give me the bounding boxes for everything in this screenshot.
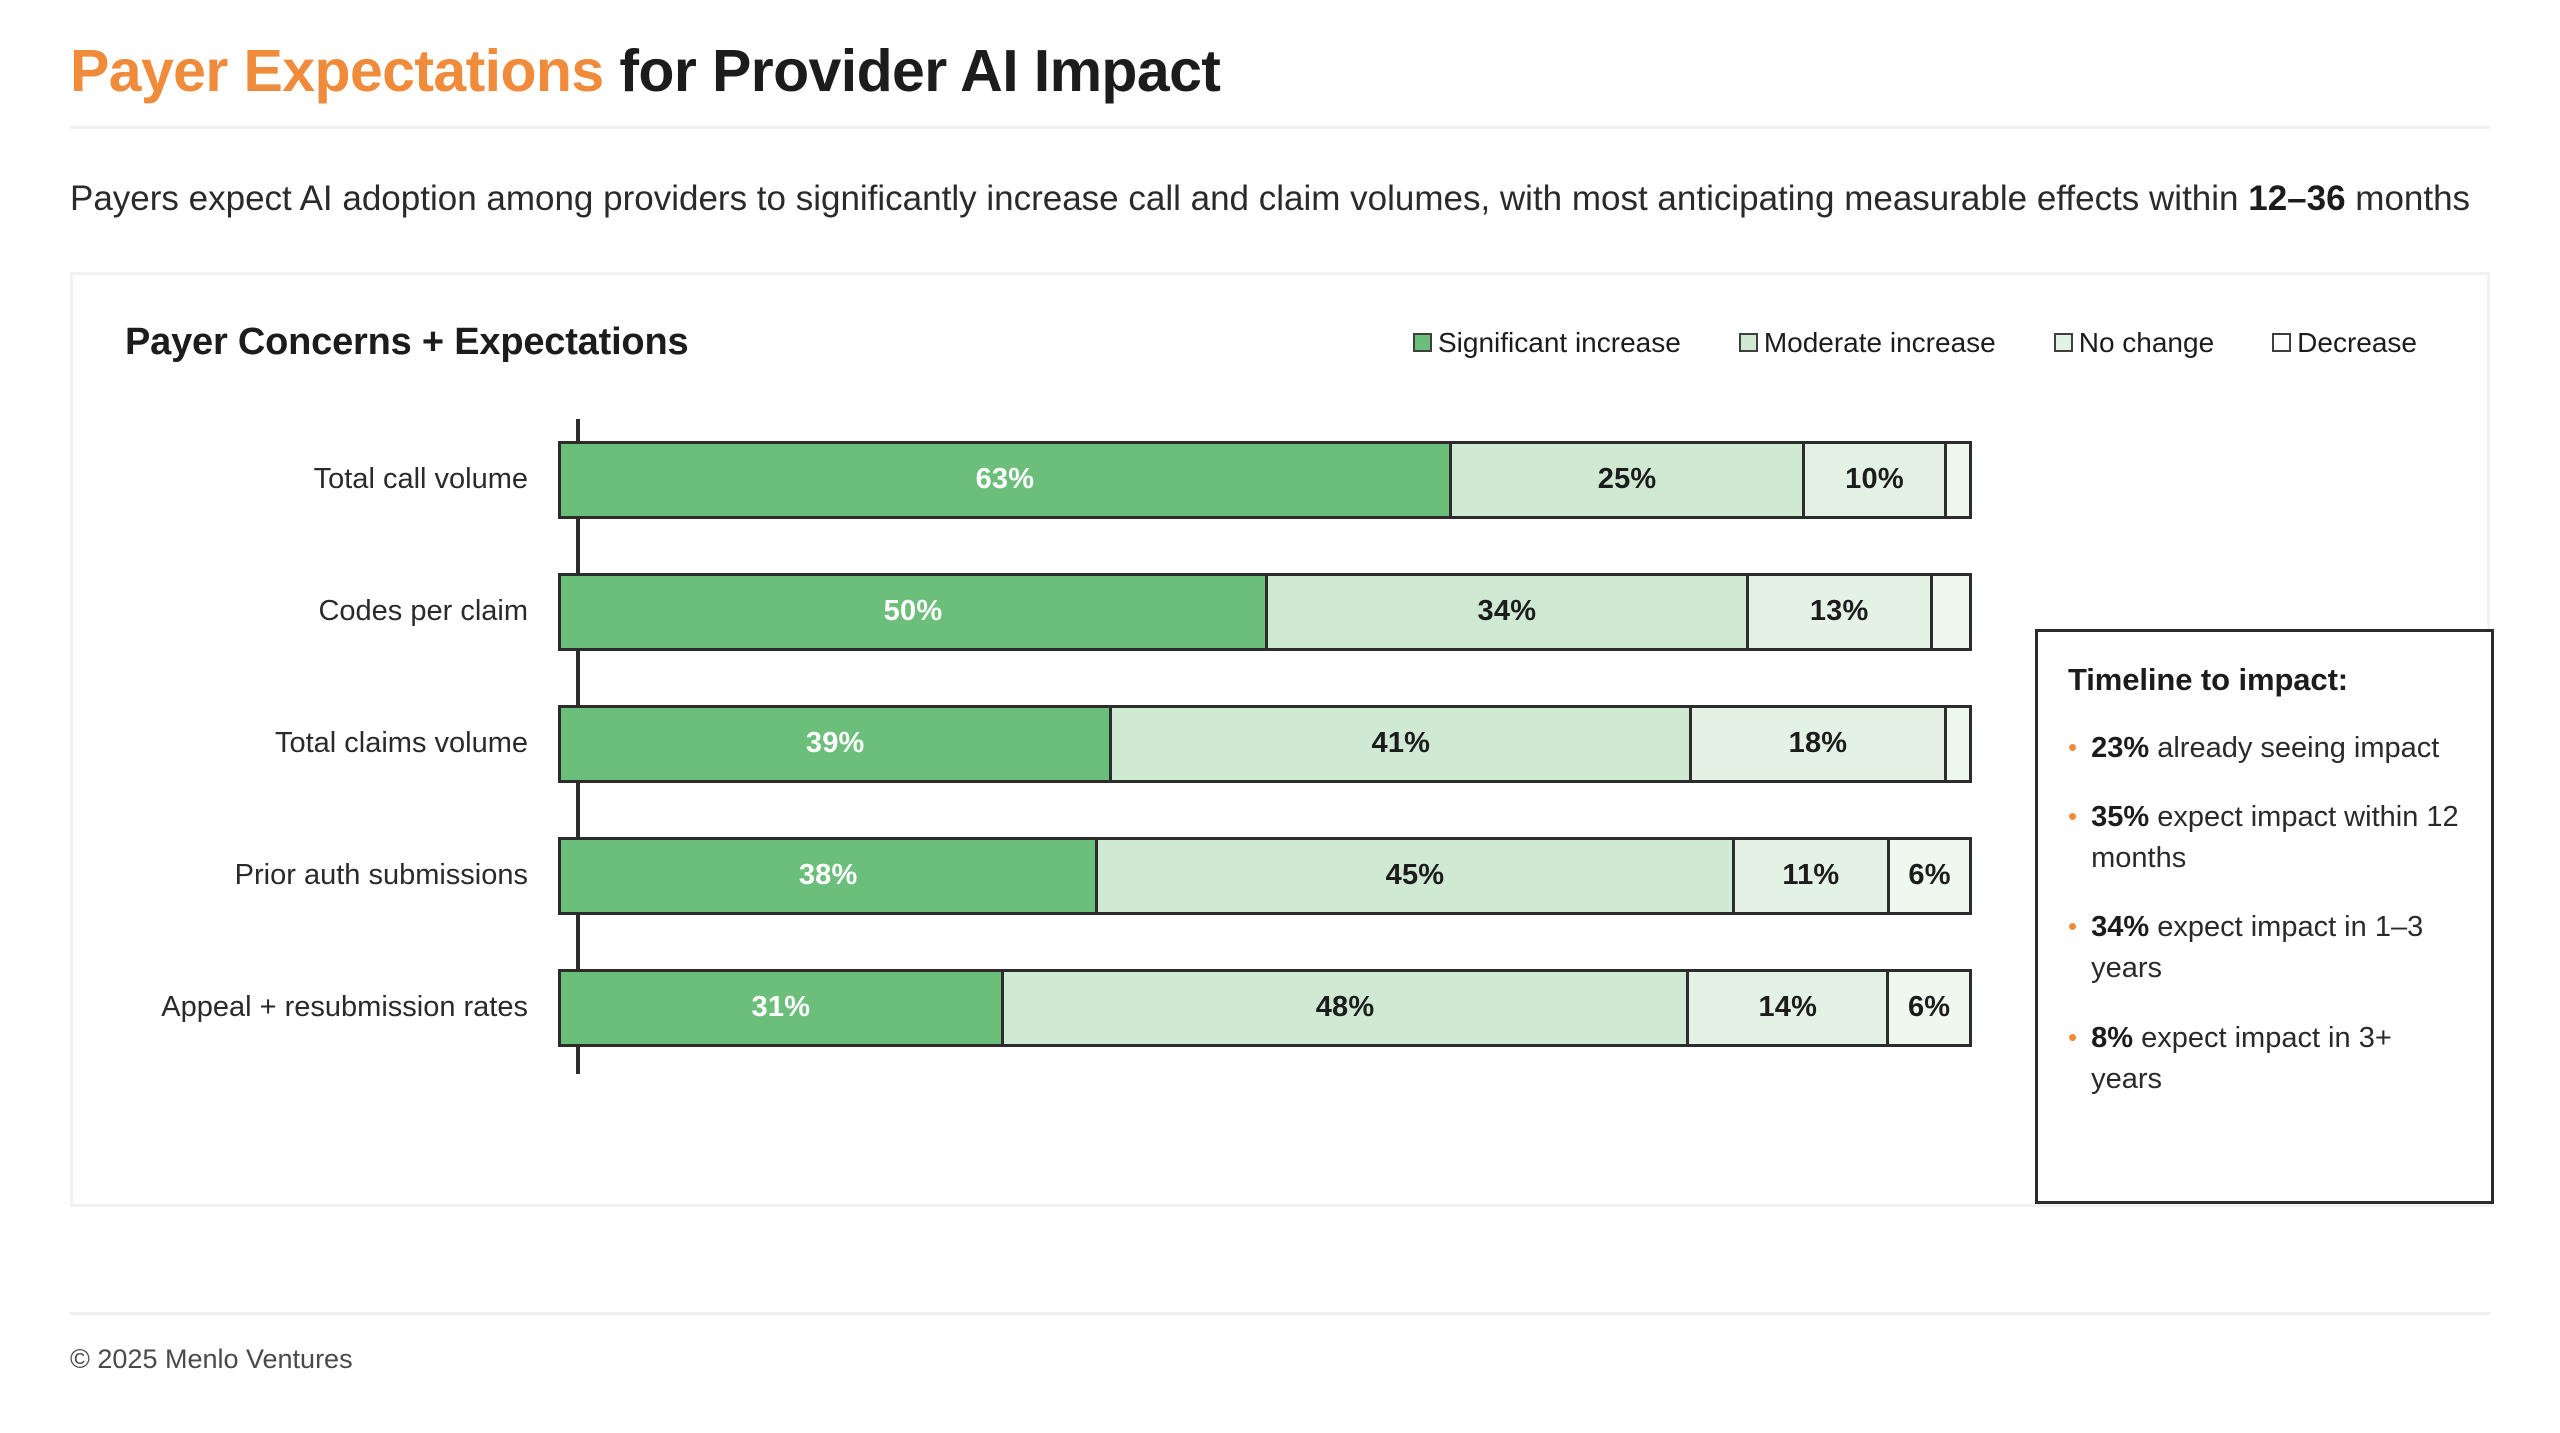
timeline-list-item: •34% expect impact in 1–3 years — [2068, 907, 2465, 989]
chart-row: Appeal + resubmission rates31%48%14%6% — [117, 969, 1987, 1047]
footer-divider — [70, 1312, 2490, 1315]
chart-bar-segment[interactable]: 6% — [1887, 837, 1972, 915]
chart-row-label: Total claims volume — [117, 727, 554, 760]
page-title: Payer Expectations for Provider AI Impac… — [70, 38, 2490, 104]
chart-bar-segment[interactable]: 48% — [1001, 969, 1687, 1047]
chart-row-label: Total call volume — [117, 463, 554, 496]
timeline-to-impact-box: Timeline to impact: •23% already seeing … — [2035, 629, 2494, 1204]
chart-bar-segment[interactable]: 13% — [1746, 573, 1930, 651]
chart-panel-header: Payer Concerns + Expectations Significan… — [117, 313, 2443, 373]
chart-bar-segment[interactable]: 10% — [1802, 441, 1943, 519]
chart-row-label: Appeal + resubmission rates — [117, 991, 554, 1024]
timeline-item-value: 23% — [2091, 732, 2149, 764]
chart-bar: 63%25%10% — [558, 441, 1972, 519]
legend-swatch-icon — [2054, 333, 2073, 352]
timeline-title: Timeline to impact: — [2068, 662, 2465, 698]
legend-item-moderate-increase[interactable]: Moderate increase — [1739, 327, 1996, 359]
chart-bar: 50%34%13% — [558, 573, 1972, 651]
chart-bar-segment[interactable]: 11% — [1732, 837, 1888, 915]
timeline-list-item: •23% already seeing impact — [2068, 728, 2465, 769]
slide-root: Payer Expectations for Provider AI Impac… — [0, 0, 2560, 1433]
chart-bar-segment[interactable]: 41% — [1109, 705, 1689, 783]
timeline-item-value: 34% — [2091, 911, 2149, 943]
chart-row: Prior auth submissions38%45%11%6% — [117, 837, 1987, 915]
legend-item-no-change[interactable]: No change — [2054, 327, 2214, 359]
stacked-bar-chart: Total call volume63%25%10%Codes per clai… — [117, 419, 2443, 1079]
chart-bar-segment[interactable] — [1944, 441, 1972, 519]
timeline-list-item: •8% expect impact in 3+ years — [2068, 1018, 2465, 1100]
bullet-icon: • — [2068, 797, 2077, 879]
chart-bar-segment[interactable]: 63% — [558, 441, 1449, 519]
timeline-item-text: 23% already seeing impact — [2091, 728, 2439, 769]
chart-bar-segment[interactable]: 31% — [558, 969, 1001, 1047]
chart-row-label: Prior auth submissions — [117, 859, 554, 892]
subtitle-part1: Payers expect AI adoption among provider… — [70, 179, 2248, 218]
timeline-item-text: 34% expect impact in 1–3 years — [2091, 907, 2465, 989]
chart-row: Total call volume63%25%10% — [117, 441, 1987, 519]
subtitle-emphasis: 12–36 — [2248, 179, 2345, 218]
timeline-list-item: •35% expect impact within 12 months — [2068, 797, 2465, 879]
chart-row: Codes per claim50%34%13% — [117, 573, 1987, 651]
timeline-item-text: 8% expect impact in 3+ years — [2091, 1018, 2465, 1100]
legend-swatch-icon — [1413, 333, 1432, 352]
chart-bar-segment[interactable]: 18% — [1689, 705, 1944, 783]
chart-bar-segment[interactable] — [1930, 573, 1972, 651]
chart-bar-segment[interactable]: 45% — [1095, 837, 1731, 915]
chart-bar-segment[interactable]: 50% — [558, 573, 1265, 651]
chart-bar-segment[interactable]: 34% — [1265, 573, 1746, 651]
chart-bar-segment[interactable]: 14% — [1686, 969, 1886, 1047]
legend-swatch-icon — [1739, 333, 1758, 352]
chart-bar: 39%41%18% — [558, 705, 1972, 783]
timeline-item-text: 35% expect impact within 12 months — [2091, 797, 2465, 879]
chart-row: Total claims volume39%41%18% — [117, 705, 1987, 783]
chart-bar-segment[interactable]: 25% — [1449, 441, 1803, 519]
chart-bar-segment[interactable] — [1944, 705, 1972, 783]
chart-bar-segment[interactable]: 38% — [558, 837, 1095, 915]
timeline-list: •23% already seeing impact•35% expect im… — [2068, 728, 2465, 1100]
legend-swatch-icon — [2272, 333, 2291, 352]
chart-bar-segment[interactable]: 39% — [558, 705, 1109, 783]
chart-title: Payer Concerns + Expectations — [125, 321, 688, 364]
chart-row-label: Codes per claim — [117, 595, 554, 628]
timeline-item-value: 8% — [2091, 1022, 2133, 1054]
legend-label: Moderate increase — [1764, 327, 1996, 359]
subtitle-part2: months — [2346, 179, 2471, 218]
chart-bar: 31%48%14%6% — [558, 969, 1972, 1047]
legend-item-significant-increase[interactable]: Significant increase — [1413, 327, 1681, 359]
chart-rows: Total call volume63%25%10%Codes per clai… — [117, 441, 1987, 1047]
legend-item-decrease[interactable]: Decrease — [2272, 327, 2417, 359]
bullet-icon: • — [2068, 1018, 2077, 1100]
chart-bar-segment[interactable]: 6% — [1886, 969, 1972, 1047]
page-title-rest: for Provider AI Impact — [604, 38, 1221, 104]
chart-bar: 38%45%11%6% — [558, 837, 1972, 915]
header-divider — [70, 126, 2490, 129]
page-title-accent: Payer Expectations — [70, 38, 604, 104]
subtitle: Payers expect AI adoption among provider… — [70, 171, 2490, 228]
legend-label: Significant increase — [1438, 327, 1681, 359]
slide-header: Payer Expectations for Provider AI Impac… — [70, 0, 2490, 126]
chart-legend: Significant increase Moderate increase N… — [1413, 327, 2439, 359]
chart-panel: Payer Concerns + Expectations Significan… — [70, 272, 2490, 1207]
timeline-item-value: 35% — [2091, 801, 2149, 833]
bullet-icon: • — [2068, 907, 2077, 989]
footer-copyright: © 2025 Menlo Ventures — [70, 1344, 353, 1375]
bullet-icon: • — [2068, 728, 2077, 769]
legend-label: Decrease — [2297, 327, 2417, 359]
legend-label: No change — [2079, 327, 2214, 359]
